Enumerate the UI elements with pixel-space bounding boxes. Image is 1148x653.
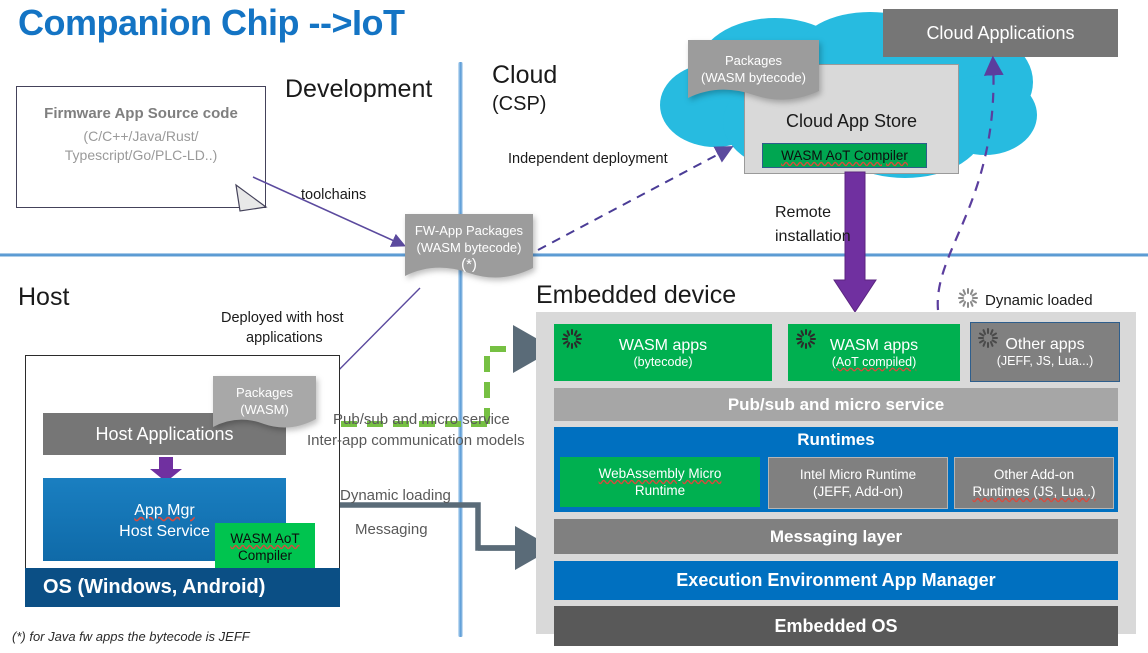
embedded-app-manager-label: Execution Environment App Manager <box>676 570 995 591</box>
embedded-app-0-name: WASM apps <box>619 336 707 355</box>
embedded-app-box-0[interactable]: WASM apps (bytecode) <box>554 324 772 381</box>
dynamic-loaded-burst-icon <box>958 288 978 308</box>
diagram-canvas: Companion Chip -->IoT Cloud Applications… <box>0 0 1148 653</box>
embedded-app-2-name: Other apps <box>1005 335 1084 354</box>
embedded-app-2-burst-icon <box>978 328 998 348</box>
footnote-text: (*) for Java fw apps the bytecode is JEF… <box>12 629 250 644</box>
fw-app-packages-line3: (*) <box>403 256 535 273</box>
embedded-runtime-1-line1: Intel Micro Runtime <box>800 466 916 483</box>
embedded-app-0-sub: (bytecode) <box>633 355 692 370</box>
independent-deployment-label: Independent deployment <box>508 151 668 167</box>
embedded-runtime-box-0[interactable]: WebAssembly Micro Runtime <box>560 457 760 507</box>
host-os-band[interactable]: OS (Windows, Android) <box>25 568 340 607</box>
embedded-runtime-0-line2: Runtime <box>635 482 685 499</box>
embedded-pubsub-layer-label: Pub/sub and micro service <box>728 395 944 415</box>
embedded-pubsub-layer[interactable]: Pub/sub and micro service <box>554 388 1118 421</box>
embedded-runtimes-title: Runtimes <box>554 430 1118 450</box>
host-aot-line1: WASM AoT <box>230 530 299 547</box>
embedded-app-manager[interactable]: Execution Environment App Manager <box>554 561 1118 600</box>
fw-app-packages-line2: (WASM bytecode) <box>403 239 535 256</box>
toolchains-label: toolchains <box>301 187 366 203</box>
host-packages-line1: Packages <box>212 384 317 401</box>
embedded-runtime-1-line2: (JEFF, Add-on) <box>813 483 903 500</box>
embedded-runtime-2-line2: Runtimes (JS, Lua..) <box>972 483 1095 500</box>
host-aot-line2: Compiler <box>238 547 292 564</box>
embedded-runtime-0-line1: WebAssembly Micro <box>599 465 722 482</box>
embedded-messaging-layer-label: Messaging layer <box>770 527 902 547</box>
deployed-with-host-line1: Deployed with host <box>221 310 344 326</box>
embedded-runtime-box-2[interactable]: Other Add-on Runtimes (JS, Lua..) <box>954 457 1114 509</box>
deployed-with-host-line2: applications <box>246 330 323 346</box>
dynamic-loaded-label: Dynamic loaded <box>985 292 1093 309</box>
embedded-app-1-name: WASM apps <box>830 336 918 355</box>
remote-installation-line2: installation <box>775 228 851 246</box>
host-os-label: OS (Windows, Android) <box>43 576 265 599</box>
embedded-os[interactable]: Embedded OS <box>554 606 1118 646</box>
embedded-os-label: Embedded OS <box>774 616 897 637</box>
embedded-app-0-burst-icon <box>562 329 582 349</box>
host-app-mgr-line1: App Mgr <box>43 500 286 521</box>
embedded-runtime-box-1[interactable]: Intel Micro Runtime (JEFF, Add-on) <box>768 457 948 509</box>
pubsub-middle-label: Pub/sub and micro service <box>333 411 510 428</box>
embedded-device-panel: WASM apps (bytecode) WASM apps (AoT comp… <box>536 312 1136 634</box>
dynamic-loading-label: Dynamic loading <box>340 487 451 504</box>
embedded-app-2-sub: (JEFF, JS, Lua...) <box>997 354 1094 369</box>
host-wasm-aot-compiler-box[interactable]: WASM AoT Compiler <box>215 523 315 571</box>
embedded-app-1-burst-icon <box>796 329 816 349</box>
embedded-runtime-2-line1: Other Add-on <box>994 466 1074 483</box>
embedded-app-1-sub: (AoT compiled) <box>832 355 917 370</box>
fw-app-packages-line1: FW-App Packages <box>403 222 535 239</box>
messaging-label: Messaging <box>355 521 428 538</box>
footnote: (*) for Java fw apps the bytecode is JEF… <box>12 629 250 644</box>
embedded-runtimes-block: Runtimes WebAssembly Micro Runtime Intel… <box>554 427 1118 512</box>
embedded-messaging-layer[interactable]: Messaging layer <box>554 519 1118 554</box>
remote-installation-line1: Remote <box>775 204 831 222</box>
inter-app-middle-label: Inter-app communication models <box>307 432 525 449</box>
host-packages-line2: (WASM) <box>212 401 317 418</box>
